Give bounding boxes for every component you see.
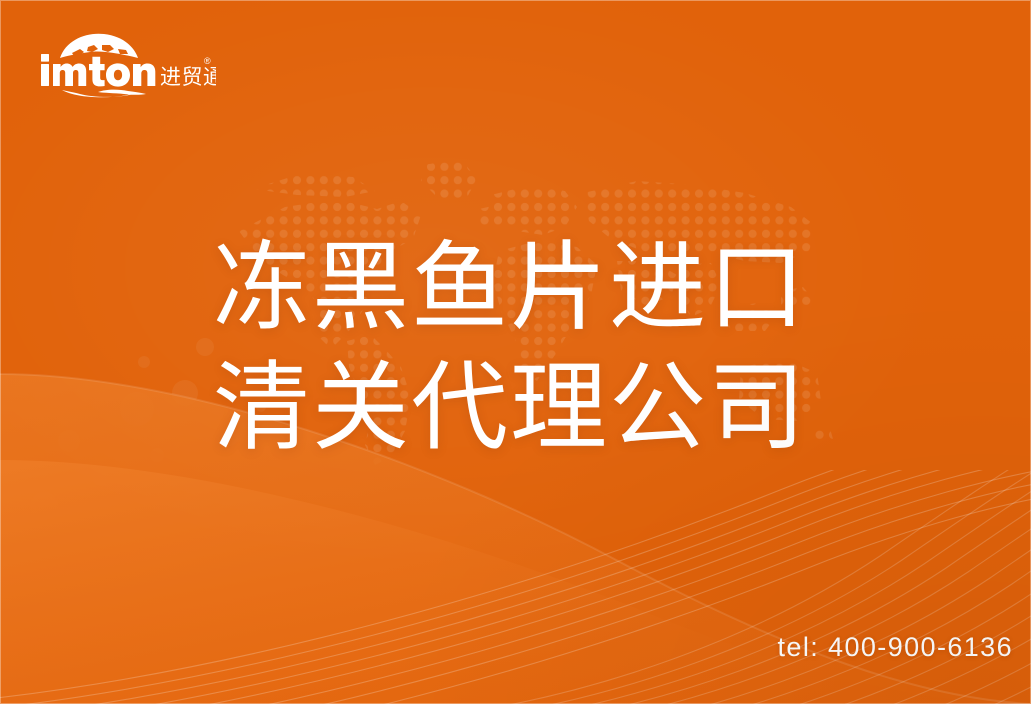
globe-icon: [60, 34, 138, 58]
page-title: 冻黑鱼片进口 清关代理公司: [213, 228, 853, 468]
ribbon-swoosh-icon: [62, 90, 146, 98]
contact-phone[interactable]: tel: 400-900-6136: [778, 632, 1013, 663]
curved-line-hatch-decoration: [0, 470, 1031, 704]
brand-logo[interactable]: 进贸通 ®: [36, 28, 216, 100]
promo-banner: 进贸通 ® 冻黑鱼片进口 清关代理公司 tel: 400-900-6136: [0, 0, 1031, 704]
headline-line-1: 冻黑鱼片进口: [213, 228, 853, 348]
logo-chinese-name: 进贸通: [160, 65, 216, 89]
headline-line-2: 清关代理公司: [213, 348, 853, 468]
wordmark-imton: [41, 54, 155, 87]
registered-mark-icon: ®: [204, 56, 211, 66]
